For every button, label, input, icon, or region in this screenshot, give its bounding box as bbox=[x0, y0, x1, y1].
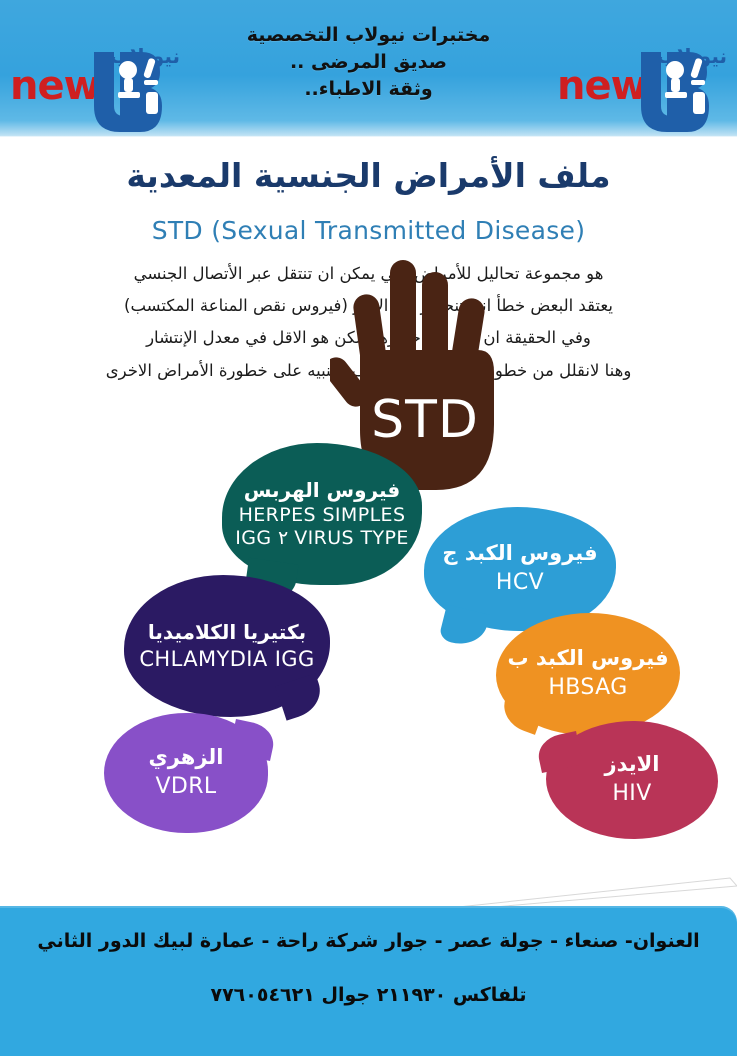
page-title-arabic: ملف الأمراض الجنسية المعدية bbox=[0, 156, 737, 196]
bubble-chlamydia-english: CHLAMYDIA IGG bbox=[139, 647, 314, 673]
bubble-herpes-arabic: فيروس الهربس bbox=[244, 478, 400, 502]
bubble-herpes-english-2: IGG ٢ VIRUS TYPE bbox=[235, 527, 408, 550]
bubble-hiv-english: HIV bbox=[612, 781, 651, 808]
logo-right: نيو لاب new bbox=[553, 42, 731, 134]
bubble-tail bbox=[497, 689, 546, 735]
footer-banner: العنوان- صنعاء - جولة عصر - جوار شركة را… bbox=[0, 906, 737, 1056]
poster-page: مختبرات نيولاب التخصصية صديق المرضى .. و… bbox=[0, 0, 737, 1056]
bubble-herpes[interactable]: فيروس الهربس HERPES SIMPLES IGG ٢ VIRUS … bbox=[222, 443, 422, 585]
bubble-vdrl-arabic: الزهري bbox=[148, 745, 223, 771]
bubble-hiv-arabic: الايدز bbox=[605, 752, 660, 778]
lab-microscope-icon bbox=[84, 46, 180, 132]
bubble-hbsag-english: HBSAG bbox=[548, 675, 627, 702]
bubble-tail bbox=[275, 673, 326, 720]
bubble-hbsag-arabic: فيروس الكبد ب bbox=[507, 646, 668, 672]
bubble-vdrl-english: VDRL bbox=[155, 774, 216, 801]
bubble-hcv-arabic: فيروس الكبد ج bbox=[442, 541, 597, 567]
bubble-hiv[interactable]: الايدز HIV bbox=[546, 721, 718, 839]
bubble-chlamydia[interactable]: بكتيريا الكلاميديا CHLAMYDIA IGG bbox=[124, 575, 330, 717]
footer-phone-numbers: تلفاكس ٢١١٩٣٠ جوال ٧٧٦٠٥٤٦٢١ bbox=[0, 984, 737, 1006]
header-banner: مختبرات نيولاب التخصصية صديق المرضى .. و… bbox=[0, 0, 737, 137]
bubble-hbsag[interactable]: فيروس الكبد ب HBSAG bbox=[496, 613, 680, 735]
bubble-vdrl[interactable]: الزهري VDRL bbox=[104, 713, 268, 833]
bubble-chlamydia-arabic: بكتيريا الكلاميديا bbox=[148, 620, 306, 644]
page-title-english: STD (Sexual Transmitted Disease) bbox=[0, 216, 737, 245]
bubble-tail bbox=[535, 731, 583, 773]
logo-left: نيو لاب new bbox=[6, 42, 184, 134]
footer-address: العنوان- صنعاء - جولة عصر - جوار شركة را… bbox=[0, 930, 737, 952]
std-center-label: STD bbox=[340, 390, 510, 450]
bubble-hcv-english: HCV bbox=[496, 570, 544, 597]
test-bubbles-cluster: فيروس الهربس HERPES SIMPLES IGG ٢ VIRUS … bbox=[0, 425, 737, 915]
lab-microscope-icon bbox=[631, 46, 727, 132]
bubble-tail bbox=[229, 719, 277, 761]
bubble-herpes-english-1: HERPES SIMPLES bbox=[239, 504, 406, 527]
bubble-tail bbox=[438, 604, 489, 650]
